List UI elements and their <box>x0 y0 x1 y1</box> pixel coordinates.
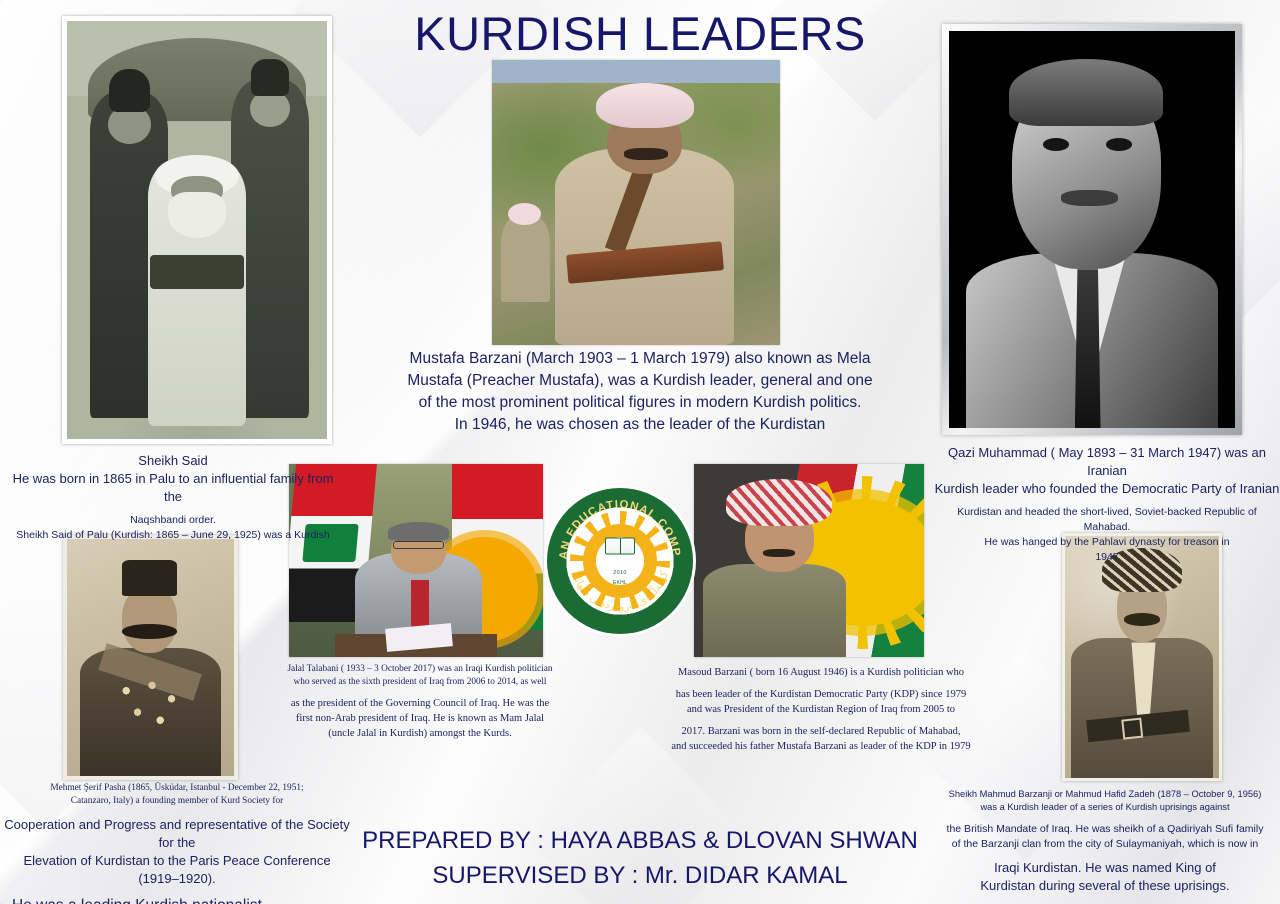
prepared-by-line: PREPARED BY : HAYA ABBAS & DLOVAN SHWAN <box>0 824 1280 859</box>
caption-line: first non-Arab president of Iraq. He is … <box>252 712 588 727</box>
caption-line: Naqshbandi order. <box>4 513 342 528</box>
caption-line: 2017. Barzani was born in the self-decla… <box>586 725 1056 740</box>
caption-line: Sheikh Said of Palu (Kurdish: 1865 – Jun… <box>4 528 342 543</box>
caption-line: He was born in 1865 in Palu to an influe… <box>4 470 342 506</box>
caption-line: In 1946, he was chosen as the leader of … <box>375 414 905 436</box>
open-book-icon <box>605 538 635 555</box>
caption-line: Mustafa (Preacher Mustafa), was a Kurdis… <box>375 370 905 392</box>
caption-line: Qazi Muhammad ( May 1893 – 31 March 1947… <box>934 444 1280 480</box>
caption-line: 1947 <box>934 550 1280 565</box>
caption-line: has been leader of the Kurdistan Democra… <box>586 688 1056 703</box>
supervised-by-line: SUPERVISED BY : Mr. DIDAR KAMAL <box>0 859 1280 894</box>
photo-sheikh-said <box>62 16 332 444</box>
photo-masoud-barzani <box>694 464 924 657</box>
caption-line: as the president of the Governing Counci… <box>252 697 588 712</box>
caption-sheikh-said: Sheikh Said He was born in 1865 in Palu … <box>4 452 342 543</box>
cihan-educational-complex-logo: CIHAN EDUCATIONAL COMPLEX كۆمەڵگەی پەروە… <box>547 488 693 634</box>
caption-line: Kurdish leader who founded the Democrati… <box>934 480 1280 498</box>
caption-masoud-barzani: Masoud Barzani ( born 16 August 1946) is… <box>586 666 1056 755</box>
caption-line: He was a leading Kurdish nationalist. <box>12 895 352 904</box>
caption-line: Mehmet Şerif Pasha (1865, Üsküdar, Istan… <box>2 782 352 795</box>
caption-line: Mustafa Barzani (March 1903 – 1 March 19… <box>375 348 905 370</box>
logo-year: 2010 <box>547 570 693 576</box>
caption-jalal-talabani: Jalal Talabani ( 1933 – 3 October 2017) … <box>252 663 588 742</box>
credits: PREPARED BY : HAYA ABBAS & DLOVAN SHWAN … <box>0 824 1280 894</box>
caption-line: was a Kurdish leader of a series of Kurd… <box>930 801 1280 814</box>
caption-line: Sheikh Said <box>4 452 342 470</box>
photo-mustafa-barzani <box>492 60 780 345</box>
caption-line: and was President of the Kurdistan Regio… <box>586 703 1056 718</box>
caption-line: and succeeded his father Mustafa Barzani… <box>586 740 1056 755</box>
photo-sheikh-mahmud-barzanji <box>1062 533 1222 781</box>
caption-line: (uncle Jalal in Kurdish) amongst the Kur… <box>252 727 588 742</box>
caption-mustafa-barzani: Mustafa Barzani (March 1903 – 1 March 19… <box>375 348 905 436</box>
photo-qazi-muhammad <box>942 24 1242 435</box>
caption-line: He was hanged by the Pahlavi dynasty for… <box>934 535 1280 550</box>
photo-mehmet-serif-pasha <box>63 535 238 780</box>
caption-line: Sheikh Mahmud Barzanji or Mahmud Hafid Z… <box>930 788 1280 801</box>
logo-abbrev: EKHL <box>547 580 693 586</box>
caption-line: Kurdistan and headed the short-lived, So… <box>934 505 1280 535</box>
caption-line: Catanzaro, Italy) a founding member of K… <box>2 795 352 808</box>
caption-line: who served as the sixth president of Ira… <box>252 676 588 689</box>
caption-line: Jalal Talabani ( 1933 – 3 October 2017) … <box>252 663 588 676</box>
caption-line: of the most prominent political figures … <box>375 392 905 414</box>
caption-qazi-muhammad: Qazi Muhammad ( May 1893 – 31 March 1947… <box>934 444 1280 564</box>
caption-line: Masoud Barzani ( born 16 August 1946) is… <box>586 666 1056 681</box>
poster-canvas: KURDISH LEADERS <box>0 0 1280 904</box>
